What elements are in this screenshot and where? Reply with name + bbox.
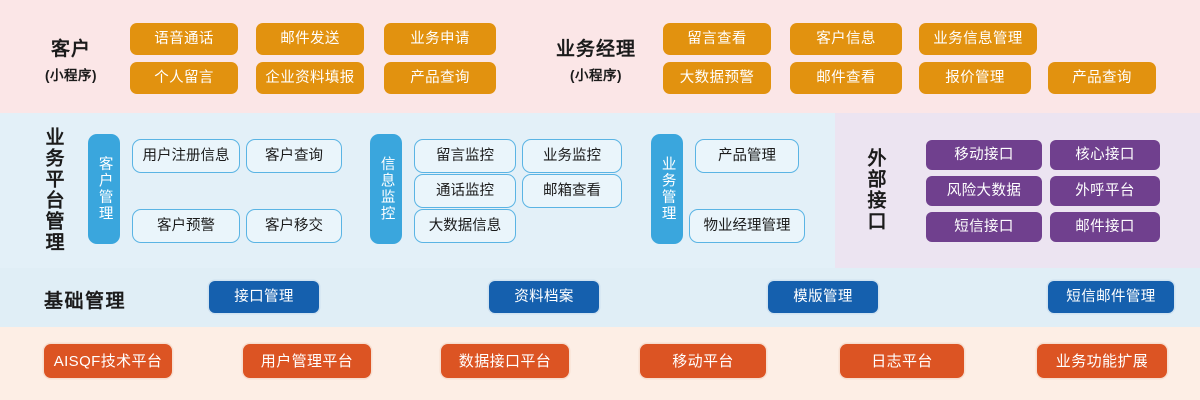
platform-box-message-monitoring[interactable]: 留言监控 — [414, 139, 516, 173]
platform-group-label-info-monitoring[interactable]: 信息监控 — [370, 134, 402, 244]
external-layer-title: 外部接口 — [862, 140, 888, 240]
foundation-button-user-management-platform[interactable]: 用户管理平台 — [243, 344, 371, 378]
platform-box-customer-alert[interactable]: 客户预警 — [132, 209, 240, 243]
client-group-title-sub: (小程序) — [26, 64, 116, 84]
basic-button-template-management[interactable]: 模版管理 — [768, 281, 878, 313]
basic-layer-band — [0, 268, 1200, 327]
foundation-button-aisqf-tech-platform[interactable]: AISQF技术平台 — [44, 344, 172, 378]
external-button-core-interface[interactable]: 核心接口 — [1050, 140, 1160, 170]
basic-button-data-archive[interactable]: 资料档案 — [489, 281, 599, 313]
client-button-voice-call[interactable]: 语音通话 — [130, 23, 238, 55]
external-button-mobile-interface[interactable]: 移动接口 — [926, 140, 1042, 170]
client-group-title: 客户 (小程序) — [26, 34, 116, 84]
foundation-button-business-function-extension[interactable]: 业务功能扩展 — [1037, 344, 1167, 378]
client-button-personal-message[interactable]: 个人留言 — [130, 62, 238, 94]
platform-box-customer-transfer[interactable]: 客户移交 — [246, 209, 342, 243]
platform-layer-title: 业务平台管理 — [40, 126, 66, 254]
foundation-button-log-platform[interactable]: 日志平台 — [840, 344, 964, 378]
basic-layer-title: 基础管理 — [44, 286, 126, 313]
manager-button-business-info-management[interactable]: 业务信息管理 — [919, 23, 1037, 55]
manager-button-quote-management[interactable]: 报价管理 — [919, 62, 1031, 94]
manager-button-customer-info[interactable]: 客户信息 — [790, 23, 902, 55]
client-button-email-send[interactable]: 邮件发送 — [256, 23, 364, 55]
platform-box-bigdata-info[interactable]: 大数据信息 — [414, 209, 516, 243]
client-button-enterprise-data-fill[interactable]: 企业资料填报 — [256, 62, 364, 94]
manager-group-title: 业务经理 (小程序) — [543, 34, 649, 84]
manager-group-title-sub: (小程序) — [543, 64, 649, 84]
platform-box-business-monitoring[interactable]: 业务监控 — [522, 139, 622, 173]
external-button-risk-bigdata[interactable]: 风险大数据 — [926, 176, 1042, 206]
manager-group-title-main: 业务经理 — [543, 34, 649, 61]
platform-box-product-management[interactable]: 产品管理 — [695, 139, 799, 173]
platform-box-mailbox-view[interactable]: 邮箱查看 — [522, 174, 622, 208]
external-button-outbound-platform[interactable]: 外呼平台 — [1050, 176, 1160, 206]
manager-button-email-view[interactable]: 邮件查看 — [790, 62, 902, 94]
external-button-sms-interface[interactable]: 短信接口 — [926, 212, 1042, 242]
client-group-title-main: 客户 — [26, 34, 116, 61]
client-button-product-query[interactable]: 产品查询 — [384, 62, 496, 94]
basic-button-interface-management[interactable]: 接口管理 — [209, 281, 319, 313]
platform-box-customer-query[interactable]: 客户查询 — [246, 139, 342, 173]
foundation-button-data-interface-platform[interactable]: 数据接口平台 — [441, 344, 569, 378]
client-button-business-apply[interactable]: 业务申请 — [384, 23, 496, 55]
manager-button-product-query[interactable]: 产品查询 — [1048, 62, 1156, 94]
manager-button-message-view[interactable]: 留言查看 — [663, 23, 771, 55]
manager-button-bigdata-alert[interactable]: 大数据预警 — [663, 62, 771, 94]
platform-group-label-customer-management[interactable]: 客户管理 — [88, 134, 120, 244]
platform-box-property-manager-management[interactable]: 物业经理管理 — [689, 209, 805, 243]
platform-group-label-business-management[interactable]: 业务管理 — [651, 134, 683, 244]
architecture-diagram: 客户 (小程序) 语音通话 邮件发送 业务申请 个人留言 企业资料填报 产品查询… — [0, 0, 1200, 400]
platform-box-call-monitoring[interactable]: 通话监控 — [414, 174, 516, 208]
external-button-email-interface[interactable]: 邮件接口 — [1050, 212, 1160, 242]
basic-button-sms-email-management[interactable]: 短信邮件管理 — [1048, 281, 1174, 313]
foundation-button-mobile-platform[interactable]: 移动平台 — [640, 344, 766, 378]
platform-box-user-registration-info[interactable]: 用户注册信息 — [132, 139, 240, 173]
foundation-layer-band — [0, 327, 1200, 400]
